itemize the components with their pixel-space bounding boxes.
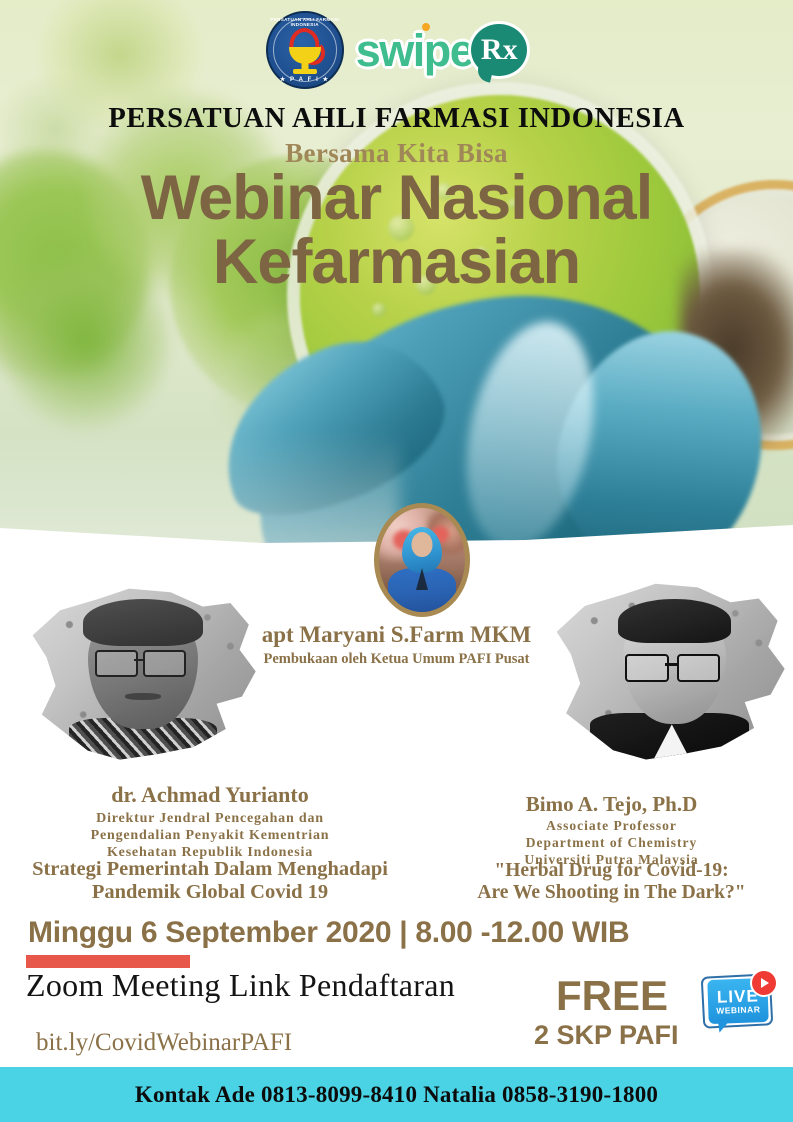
swipe-wordmark: swipe [356, 28, 474, 73]
left-speaker-glasses-lens [143, 650, 186, 677]
pafi-logo-icon: PERSATUAN AHLI FARMASI INDONESIA ★ P A F… [266, 11, 344, 89]
center-speaker-avatar [374, 503, 470, 617]
title-line-2: Kefarmasian [0, 230, 793, 294]
live-badge-line-1: LIVE [717, 987, 759, 1005]
center-speaker-portrait [379, 508, 465, 612]
event-date-time: Minggu 6 September 2020 | 8.00 -12.00 WI… [28, 916, 629, 950]
play-button-icon [752, 971, 776, 995]
page-title: Webinar Nasional Kefarmasian [0, 166, 793, 295]
right-speaker-topic-line: "Herbal Drug for Covid-19: [430, 860, 793, 882]
right-speaker-photo-mask [552, 580, 787, 765]
price-label: FREE [556, 972, 668, 1020]
pafi-logo-bottom-text: ★ P A F I ★ [268, 76, 342, 83]
swipe-dot-icon [422, 23, 430, 31]
contact-bar: Kontak Ade 0813-8099-8410 Natalia 0858-3… [0, 1067, 793, 1122]
right-speaker-photo [552, 580, 787, 765]
live-badge-line-2: WEBINAR [716, 1005, 760, 1015]
registration-link[interactable]: bit.ly/CovidWebinarPAFI [36, 1029, 292, 1057]
right-speaker-topic-line: Are We Shooting in The Dark?" [430, 882, 793, 904]
rx-speech-bubble-icon: Rx [471, 24, 527, 76]
pafi-bowl-base [293, 69, 317, 74]
right-speaker-affiliation-line: Associate Professor [430, 818, 793, 835]
rx-label: Rx [481, 35, 518, 65]
right-speaker-glasses-lens [677, 654, 721, 682]
left-speaker-topic-line: Strategi Pemerintah Dalam Menghadapi [0, 858, 420, 881]
webinar-poster: PERSATUAN AHLI FARMASI INDONESIA ★ P A F… [0, 0, 793, 1122]
right-speaker-topic: "Herbal Drug for Covid-19: Are We Shooti… [430, 860, 793, 904]
swiperx-logo: swipe Rx [356, 24, 528, 76]
pafi-logo-top-text: PERSATUAN AHLI FARMASI INDONESIA [268, 17, 342, 27]
portrait-face [412, 532, 433, 557]
credits-label: 2 SKP PAFI [534, 1020, 679, 1051]
left-speaker-name: dr. Achmad Yurianto [0, 782, 420, 808]
right-speaker-glasses-lens [625, 654, 669, 682]
left-speaker-topic-line: Pandemik Global Covid 19 [0, 881, 420, 904]
left-speaker-mouth [125, 693, 162, 700]
left-speaker-glasses-bridge [134, 659, 146, 661]
left-speaker-glasses-lens [95, 650, 138, 677]
left-speaker-photo-mask [28, 585, 258, 765]
left-speaker-topic: Strategi Pemerintah Dalam Menghadapi Pan… [0, 858, 420, 903]
organization-name: PERSATUAN AHLI FARMASI INDONESIA [0, 103, 793, 135]
right-speaker-name: Bimo A. Tejo, Ph.D [430, 792, 793, 817]
play-triangle-icon [761, 978, 769, 988]
left-speaker-photo [28, 585, 258, 765]
logo-row: PERSATUAN AHLI FARMASI INDONESIA ★ P A F… [0, 6, 793, 94]
right-speaker-hair [618, 599, 731, 643]
left-speaker-affiliation-line: Direktur Jendral Pencegahan dan [0, 810, 420, 827]
contact-text: Kontak Ade 0813-8099-8410 Natalia 0858-3… [135, 1082, 658, 1108]
title-line-1: Webinar Nasional [141, 163, 652, 233]
right-speaker-glasses-bridge [665, 663, 677, 666]
left-speaker-affiliation-line: Pengendalian Penyakit Kementrian [0, 827, 420, 844]
right-speaker-affiliation-line: Department of Chemistry [430, 835, 793, 852]
platform-registration-label: Zoom Meeting Link Pendaftaran [26, 967, 455, 1004]
live-webinar-badge-icon: LIVE WEBINAR [700, 971, 778, 1033]
left-speaker-hair [83, 599, 203, 646]
left-speaker-affiliation: Direktur Jendral Pencegahan dan Pengenda… [0, 810, 420, 861]
